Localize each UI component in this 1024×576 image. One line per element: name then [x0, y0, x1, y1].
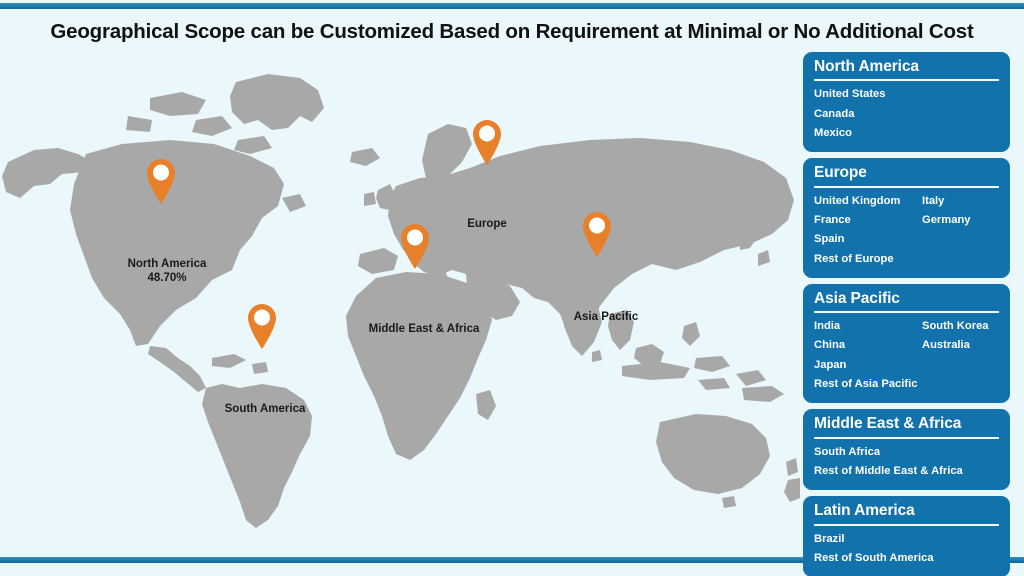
region-country-item[interactable]: Rest of Europe [814, 250, 922, 269]
region-panel-title: Middle East & Africa [814, 414, 999, 434]
region-panel-asia-pacific[interactable]: Asia PacificIndiaChinaJapanRest of Asia … [803, 284, 1010, 404]
map-label-europe: Europe [467, 217, 507, 231]
region-panel-title: North America [814, 57, 999, 77]
map-label-text: North America [128, 258, 207, 270]
map-pin-south-america[interactable] [244, 302, 280, 350]
top-accent-rule [0, 3, 1024, 9]
region-panel-divider [814, 311, 999, 313]
map-label-asia-pacific: Asia Pacific [574, 310, 639, 324]
region-panel-title: Latin America [814, 501, 999, 521]
region-panel-middle-east-africa[interactable]: Middle East & AfricaSouth AfricaRest of … [803, 409, 1010, 490]
region-country-columns: BrazilRest of South America [814, 530, 999, 569]
map-pin-europe[interactable] [469, 118, 505, 166]
region-country-item[interactable]: India [814, 317, 922, 336]
region-country-item[interactable]: Australia [922, 336, 989, 355]
region-panel-list: North AmericaUnited StatesCanadaMexicoEu… [803, 52, 1010, 576]
region-panel-divider [814, 524, 999, 526]
map-label-middle-east-africa: Middle East & Africa [369, 322, 480, 336]
page-title: Geographical Scope can be Customized Bas… [0, 20, 1024, 44]
slide-canvas: Geographical Scope can be Customized Bas… [0, 0, 1024, 576]
region-panel-latin-america[interactable]: Latin AmericaBrazilRest of South America [803, 496, 1010, 576]
region-country-column: United KingdomFranceSpainRest of Europe [814, 192, 922, 269]
region-country-item[interactable]: Rest of Asia Pacific [814, 375, 922, 394]
region-country-column: ItalyGermany [922, 192, 971, 269]
region-country-columns: United StatesCanadaMexico [814, 85, 999, 143]
region-country-item[interactable]: France [814, 211, 922, 230]
region-panel-north-america[interactable]: North AmericaUnited StatesCanadaMexico [803, 52, 1010, 152]
region-country-item[interactable]: South Africa [814, 443, 963, 462]
map-label-text: Asia Pacific [574, 311, 639, 323]
map-pin-asia-pacific[interactable] [579, 210, 615, 258]
region-country-column: South KoreaAustralia [922, 317, 989, 394]
region-country-column: IndiaChinaJapanRest of Asia Pacific [814, 317, 922, 394]
region-country-column: BrazilRest of South America [814, 530, 934, 569]
region-country-item[interactable]: Italy [922, 192, 971, 211]
region-country-item[interactable]: China [814, 336, 922, 355]
region-country-column: United StatesCanadaMexico [814, 85, 922, 143]
region-panel-europe[interactable]: EuropeUnited KingdomFranceSpainRest of E… [803, 158, 1010, 278]
region-panel-title: Europe [814, 163, 999, 183]
region-country-item[interactable]: Canada [814, 105, 922, 124]
region-country-item[interactable]: Germany [922, 211, 971, 230]
region-country-item[interactable]: United Kingdom [814, 192, 922, 211]
region-panel-divider [814, 186, 999, 188]
map-label-text: Europe [467, 218, 507, 230]
world-map-container: North America 48.70% Europe Asia Pacific… [0, 58, 800, 548]
region-panel-divider [814, 437, 999, 439]
region-panel-divider [814, 79, 999, 81]
region-country-columns: South AfricaRest of Middle East & Africa [814, 443, 999, 482]
region-country-item[interactable]: Brazil [814, 530, 934, 549]
region-country-item[interactable]: Mexico [814, 124, 922, 143]
region-country-columns: United KingdomFranceSpainRest of EuropeI… [814, 192, 999, 269]
region-country-item[interactable]: South Korea [922, 317, 989, 336]
region-country-item[interactable]: Rest of South America [814, 549, 934, 568]
map-pin-middle-east-africa[interactable] [397, 222, 433, 270]
map-label-north-america: North America 48.70% [128, 257, 207, 286]
region-country-column: South AfricaRest of Middle East & Africa [814, 443, 963, 482]
map-pin-north-america[interactable] [143, 157, 179, 205]
region-country-item[interactable]: United States [814, 85, 922, 104]
region-panel-title: Asia Pacific [814, 289, 999, 309]
world-map-graphic [0, 58, 800, 548]
map-label-value: 48.70% [128, 271, 207, 285]
region-country-item[interactable]: Japan [814, 356, 922, 375]
map-label-text: Middle East & Africa [369, 323, 480, 335]
map-label-text: South America [225, 403, 306, 415]
map-label-south-america: South America [225, 402, 306, 416]
region-country-columns: IndiaChinaJapanRest of Asia PacificSouth… [814, 317, 999, 394]
region-country-item[interactable]: Spain [814, 230, 922, 249]
region-country-item[interactable]: Rest of Middle East & Africa [814, 462, 963, 481]
